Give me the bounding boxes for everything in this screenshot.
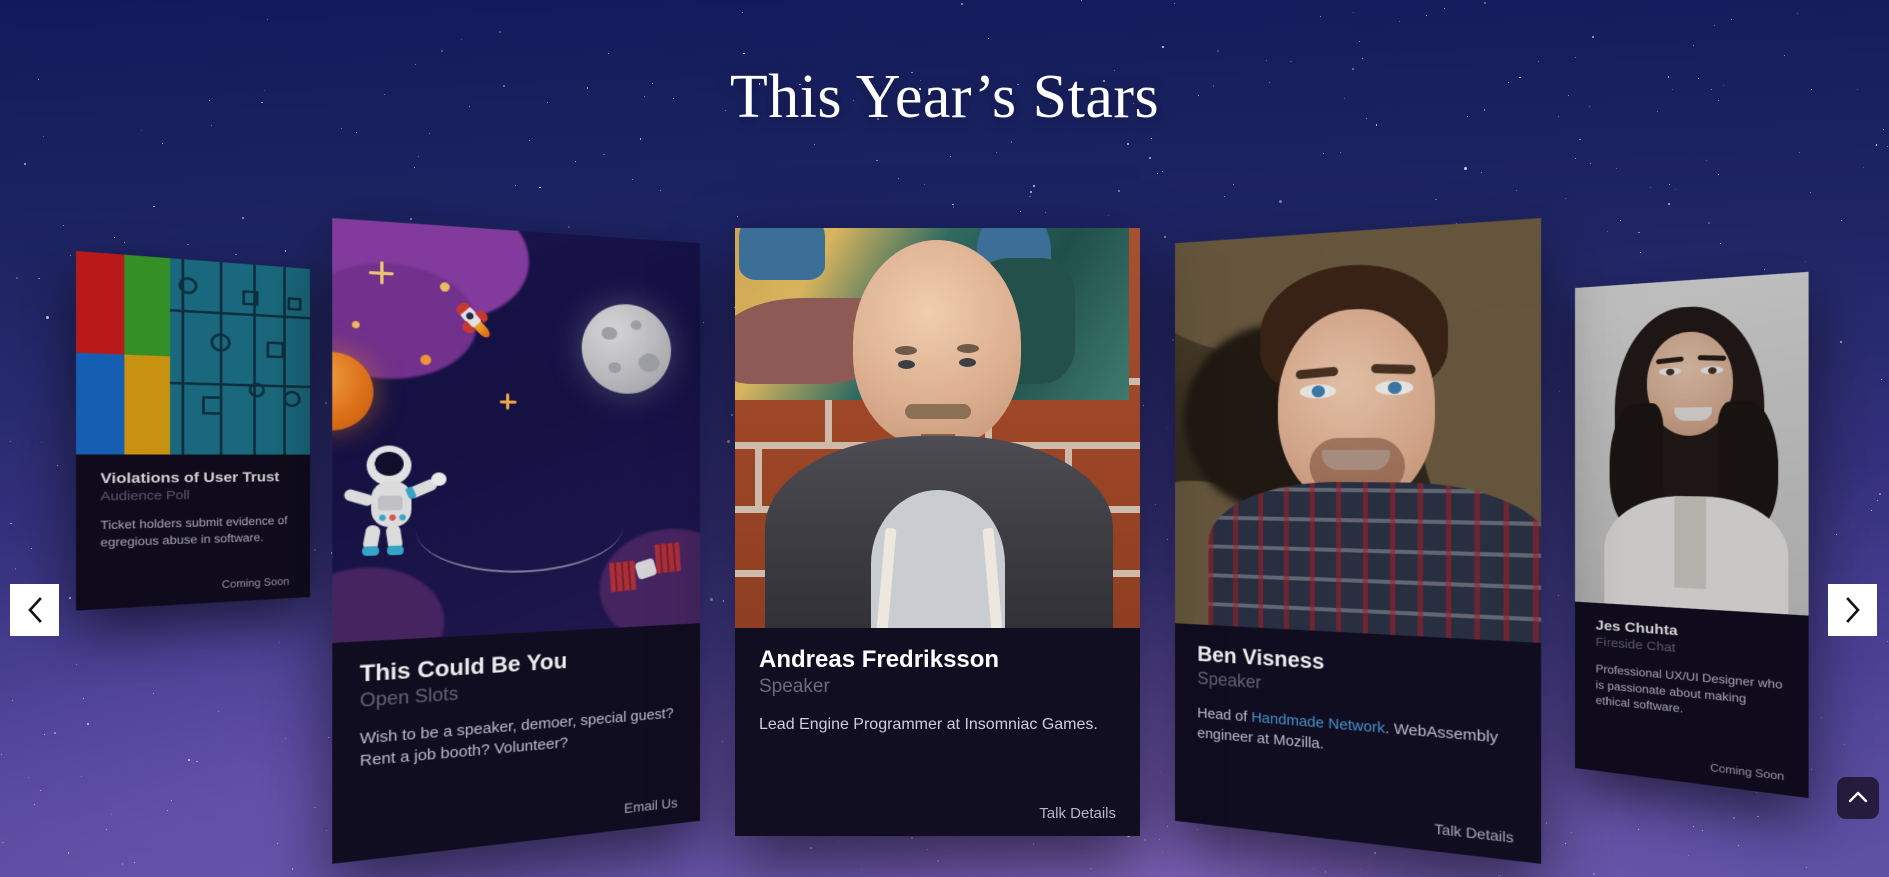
- carousel-card-violations-of-user-trust[interactable]: Violations of User Trust Audience Poll T…: [76, 251, 310, 611]
- card-description: Ticket holders submit evidence of egregi…: [100, 513, 289, 551]
- portrait-ben-icon: [1175, 218, 1541, 643]
- card-role: Speaker: [759, 676, 1116, 699]
- card-body: This Could Be You Open Slots Wish to be …: [332, 623, 700, 864]
- chevron-right-icon: [1843, 596, 1863, 624]
- card-media-portrait-ben: [1175, 218, 1541, 643]
- portrait-jes-icon: [1575, 272, 1809, 616]
- card-body: Violations of User Trust Audience Poll T…: [76, 454, 310, 610]
- card-media-space-illustration: [332, 218, 700, 643]
- card-title: Andreas Fredriksson: [759, 646, 1116, 674]
- chevron-up-icon: [1848, 790, 1868, 807]
- card-description: Wish to be a speaker, demoer, special gu…: [360, 702, 678, 773]
- card-body: Ben Visness Speaker Head of Handmade Net…: [1175, 623, 1541, 864]
- desc-text-before: Head of: [1197, 704, 1251, 725]
- tech-icons-color-grid-icon: [76, 251, 310, 455]
- card-body: Jes Chuhta Fireside Chat Professional UX…: [1575, 602, 1809, 798]
- card-cta-link[interactable]: Talk Details: [1434, 820, 1513, 845]
- card-description: Head of Handmade Network. WebAssembly en…: [1197, 702, 1513, 773]
- portrait-andreas-icon: [735, 228, 1140, 628]
- carousel-card-this-could-be-you[interactable]: This Could Be You Open Slots Wish to be …: [332, 218, 700, 864]
- carousel-card-ben-visness[interactable]: Ben Visness Speaker Head of Handmade Net…: [1175, 218, 1541, 864]
- card-cta-link[interactable]: Talk Details: [1039, 805, 1116, 822]
- card-role: Audience Poll: [100, 487, 289, 505]
- card-media-portrait-andreas: [735, 228, 1140, 628]
- chevron-left-icon: [25, 596, 45, 624]
- carousel-next-button[interactable]: [1828, 584, 1877, 636]
- card-media-tech-icons: [76, 251, 310, 455]
- carousel-card-jes-chuhta[interactable]: Jes Chuhta Fireside Chat Professional UX…: [1575, 272, 1809, 798]
- card-description: Lead Engine Programmer at Insomniac Game…: [759, 713, 1116, 736]
- card-cta-link[interactable]: Coming Soon: [222, 576, 290, 591]
- card-cta-link[interactable]: Coming Soon: [1710, 762, 1784, 783]
- scroll-to-top-button[interactable]: [1837, 777, 1879, 819]
- card-body: Andreas Fredriksson Speaker Lead Engine …: [735, 628, 1140, 836]
- page-root: This Year’s Stars: [0, 0, 1889, 877]
- card-description: Professional UX/UI Designer who is passi…: [1596, 661, 1785, 728]
- card-title: Violations of User Trust: [100, 469, 289, 487]
- carousel-prev-button[interactable]: [10, 584, 59, 636]
- page-title: This Year’s Stars: [0, 62, 1889, 133]
- card-media-portrait-jes: [1575, 272, 1809, 616]
- card-cta-link[interactable]: Email Us: [624, 795, 678, 816]
- space-astronaut-illustration-icon: [332, 218, 700, 643]
- carousel-card-andreas-fredriksson[interactable]: Andreas Fredriksson Speaker Lead Engine …: [735, 228, 1140, 836]
